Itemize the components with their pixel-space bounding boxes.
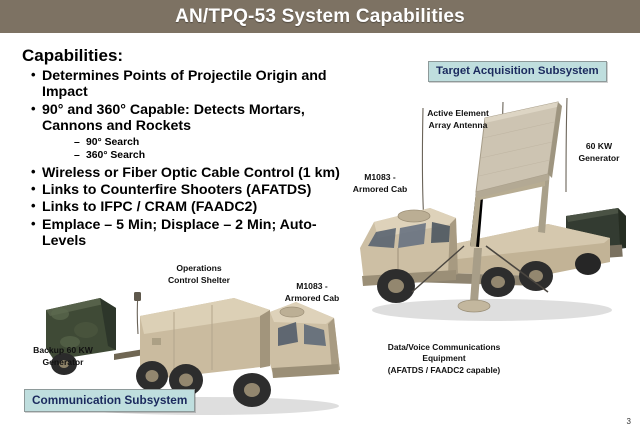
- bullet-item: Links to Counterfire Shooters (AFATDS): [31, 182, 352, 198]
- capabilities-heading: Capabilities:: [22, 46, 352, 66]
- capabilities-list: Determines Points of Projectile Origin a…: [22, 68, 352, 250]
- m1083-armored-cab-comm: [270, 302, 340, 378]
- bullet-item: Determines Points of Projectile Origin a…: [31, 68, 352, 101]
- label-60kw-generator: 60 KW Generator: [570, 141, 628, 164]
- sub-bullet-list: 90° Search 360° Search: [42, 136, 352, 163]
- radar-vehicle-illustration: [352, 96, 640, 336]
- page-number: 3: [627, 417, 631, 426]
- target-acquisition-photo: [352, 96, 640, 336]
- communication-subsystem-label: Communication Subsystem: [24, 389, 195, 412]
- sub-bullet-item: 360° Search: [74, 149, 352, 162]
- bullet-text: Emplace – 5 Min; Displace – 2 Min; Auto-…: [42, 217, 317, 249]
- sub-bullet-item: 90° Search: [74, 136, 352, 149]
- sub-bullet-text: 360° Search: [86, 150, 145, 161]
- bullet-text: Links to IFPC / CRAM (FAADC2): [42, 199, 257, 215]
- label-m1083-armored-cab-top: M1083 - Armored Cab: [349, 172, 411, 195]
- label-m1083-armored-cab-bottom: M1083 - Armored Cab: [281, 281, 343, 304]
- target-acquisition-subsystem-label: Target Acquisition Subsystem: [428, 61, 607, 82]
- bullet-text: Links to Counterfire Shooters (AFATDS): [42, 182, 311, 198]
- capabilities-block: Capabilities: Determines Points of Proje…: [22, 46, 352, 251]
- slide: AN/TPQ-53 System Capabilities Capabiliti…: [0, 0, 640, 431]
- label-active-element-array-antenna: Active Element Array Antenna: [415, 108, 501, 131]
- sub-bullet-text: 90° Search: [86, 137, 139, 148]
- label-data-voice-communications: Data/Voice Communications Equipment (AFA…: [360, 342, 528, 376]
- bullet-item: Wireless or Fiber Optic Cable Control (1…: [31, 165, 352, 181]
- label-backup-60kw-generator: Backup 60 KW Generator: [22, 345, 104, 368]
- bullet-item: 90° and 360° Capable: Detects Mortars, C…: [31, 102, 352, 163]
- bullet-item: Emplace – 5 Min; Displace – 2 Min; Auto-…: [31, 217, 352, 250]
- page-title: AN/TPQ-53 System Capabilities: [175, 6, 465, 28]
- slide-header: AN/TPQ-53 System Capabilities: [0, 0, 640, 33]
- bullet-text: Wireless or Fiber Optic Cable Control (1…: [42, 165, 340, 181]
- bullet-item: Links to IFPC / CRAM (FAADC2): [31, 199, 352, 215]
- label-operations-control-shelter: Operations Control Shelter: [156, 263, 242, 286]
- bullet-text: Determines Points of Projectile Origin a…: [42, 68, 327, 100]
- bullet-text: 90° and 360° Capable: Detects Mortars, C…: [42, 102, 305, 134]
